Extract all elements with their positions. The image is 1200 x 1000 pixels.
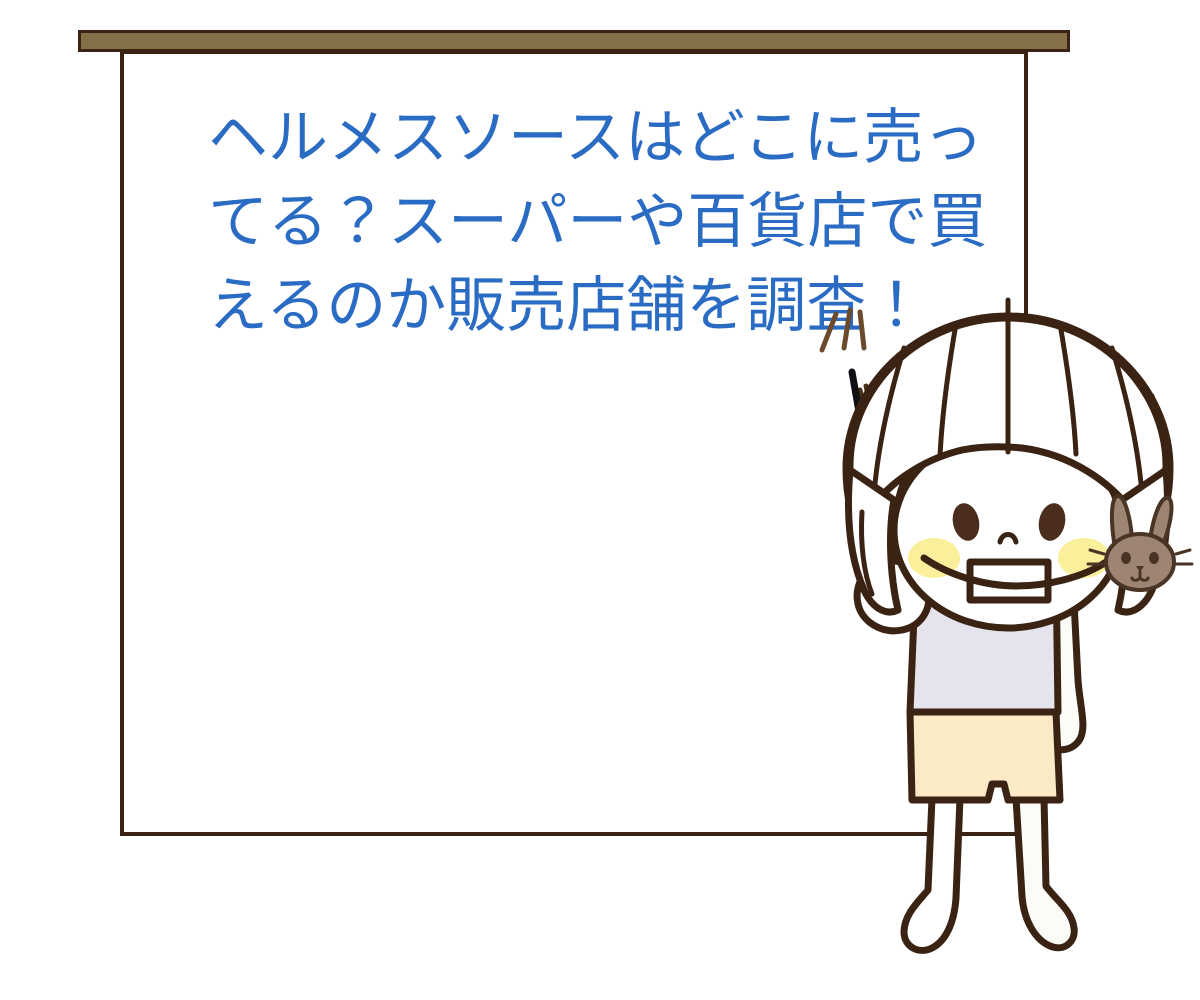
right-blush <box>1058 538 1110 578</box>
headline-text: ヘルメスソースはどこに売ってる？スーパーや百貨店で買えるのか販売店舗を調査！ <box>208 96 1008 348</box>
bunny-hair-clip-icon <box>1088 496 1192 590</box>
right-eye <box>1035 501 1068 544</box>
eyecatch-canvas: ヘルメスソースはどこに売ってる？スーパーや百貨店で買えるのか販売店舗を調査！ <box>0 0 1200 1000</box>
hair-side-right <box>1118 470 1167 612</box>
right-arm <box>1039 555 1083 750</box>
projector-screen-top-bar <box>78 30 1070 52</box>
